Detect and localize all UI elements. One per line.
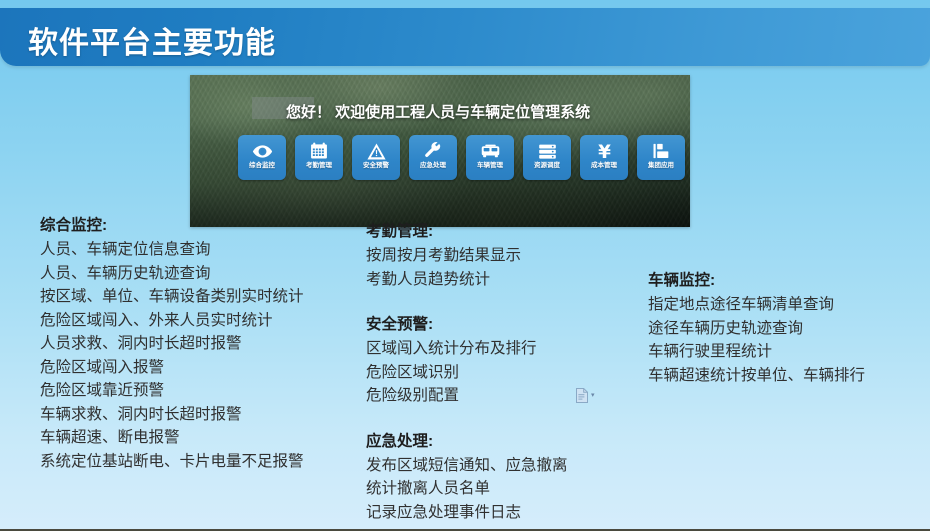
feature-item: 按区域、单位、车辆设备类别实时统计 <box>40 285 304 309</box>
app-tile-label: 综合监控 <box>249 163 275 170</box>
app-tile-label: 成本管理 <box>591 163 617 170</box>
warning-triangle-icon <box>365 140 387 162</box>
app-tile-label: 应急处理 <box>420 163 446 170</box>
feature-item: 车辆超速统计按单位、车辆排行 <box>648 364 865 388</box>
feature-item: 危险区域靠近预警 <box>40 379 304 403</box>
yuan-icon: ¥ <box>593 140 615 162</box>
feature-item: 人员求救、洞内时长超时报警 <box>40 332 304 356</box>
feature-group: 车辆监控: 指定地点途径车辆清单查询 途径车辆历史轨迹查询 车辆行驶里程统计 车… <box>648 269 865 387</box>
app-tile-label: 车辆管理 <box>477 163 503 170</box>
app-tile-resource-scheduling[interactable]: 资源调度 <box>523 135 571 180</box>
slide-title-bar: 软件平台主要功能 <box>0 8 930 66</box>
feature-group: 应急处理: 发布区域短信通知、应急撤离 统计撤离人员名单 记录应急处理事件日志 <box>366 430 568 525</box>
feature-group-title: 考勤管理: <box>366 220 568 244</box>
feature-item: 危险区域闯入报警 <box>40 356 304 380</box>
feature-group: 安全预警: 区域闯入统计分布及排行 危险区域识别 危险级别配置 <box>366 313 568 408</box>
feature-item: 危险级别配置 <box>366 384 568 408</box>
eye-icon <box>251 140 273 162</box>
app-tile-label: 考勤管理 <box>306 163 332 170</box>
app-tile-cost-management[interactable]: ¥ 成本管理 <box>580 135 628 180</box>
feature-item: 途径车辆历史轨迹查询 <box>648 317 865 341</box>
feature-group-title: 车辆监控: <box>648 269 865 293</box>
app-tile-label: 安全预警 <box>363 163 389 170</box>
app-tile-label: 集团应用 <box>648 163 674 170</box>
feature-item: 指定地点途径车辆清单查询 <box>648 293 865 317</box>
feature-group-title: 应急处理: <box>366 430 568 454</box>
calendar-icon <box>308 140 330 162</box>
app-tile-vehicle-management[interactable]: 车辆管理 <box>466 135 514 180</box>
feature-item: 记录应急处理事件日志 <box>366 501 568 525</box>
paste-options-icon <box>576 388 588 403</box>
bar-chart-icon <box>650 140 672 162</box>
app-tile-safety-warning[interactable]: 安全预警 <box>352 135 400 180</box>
paste-options-button[interactable]: ▾ <box>576 388 595 403</box>
feature-item: 统计撤离人员名单 <box>366 477 568 501</box>
chevron-down-icon: ▾ <box>591 392 595 399</box>
feature-item: 人员、车辆定位信息查询 <box>40 238 304 262</box>
feature-item: 考勤人员趋势统计 <box>366 268 568 292</box>
feature-column-3: 车辆监控: 指定地点途径车辆清单查询 途径车辆历史轨迹查询 车辆行驶里程统计 车… <box>648 269 865 387</box>
feature-item: 危险区域闯入、外来人员实时统计 <box>40 309 304 333</box>
feature-group-title: 安全预警: <box>366 313 568 337</box>
feature-item: 危险区域识别 <box>366 361 568 385</box>
svg-text:¥: ¥ <box>598 142 611 162</box>
feature-group: 综合监控: 人员、车辆定位信息查询 人员、车辆历史轨迹查询 按区域、单位、车辆设… <box>40 214 304 473</box>
app-tile-row: 综合监控 <box>238 135 685 180</box>
app-tile-label: 资源调度 <box>534 163 560 170</box>
feature-item: 车辆行驶里程统计 <box>648 340 865 364</box>
feature-item: 车辆求救、洞内时长超时报警 <box>40 403 304 427</box>
welcome-banner-text: 您好！ 欢迎使用工程人员与车辆定位管理系统 <box>286 101 590 122</box>
app-tile-emergency-handling[interactable]: 应急处理 <box>409 135 457 180</box>
slide-canvas: 软件平台主要功能 您好！ 欢迎使用工程人员与车辆定位管理系统 综合监控 <box>0 0 930 531</box>
feature-column-2: 考勤管理: 按周按月考勤结果显示 考勤人员趋势统计 安全预警: 区域闯入统计分布… <box>366 220 568 524</box>
feature-item: 发布区域短信通知、应急撤离 <box>366 454 568 478</box>
feature-group: 考勤管理: 按周按月考勤结果显示 考勤人员趋势统计 <box>366 220 568 291</box>
feature-column-1: 综合监控: 人员、车辆定位信息查询 人员、车辆历史轨迹查询 按区域、单位、车辆设… <box>40 214 304 473</box>
feature-item: 按周按月考勤结果显示 <box>366 244 568 268</box>
feature-item: 区域闯入统计分布及排行 <box>366 337 568 361</box>
app-tile-group-application[interactable]: 集团应用 <box>637 135 685 180</box>
feature-item: 系统定位基站断电、卡片电量不足报警 <box>40 450 304 474</box>
feature-item: 人员、车辆历史轨迹查询 <box>40 262 304 286</box>
system-screenshot-image: 您好！ 欢迎使用工程人员与车辆定位管理系统 综合监控 <box>190 75 690 227</box>
server-list-icon <box>536 140 558 162</box>
app-tile-comprehensive-monitoring[interactable]: 综合监控 <box>238 135 286 180</box>
bus-icon <box>479 140 501 162</box>
page-title: 软件平台主要功能 <box>28 18 276 62</box>
feature-item: 车辆超速、断电报警 <box>40 426 304 450</box>
wrench-icon <box>422 140 444 162</box>
feature-group-title: 综合监控: <box>40 214 304 238</box>
app-tile-attendance-management[interactable]: 考勤管理 <box>295 135 343 180</box>
